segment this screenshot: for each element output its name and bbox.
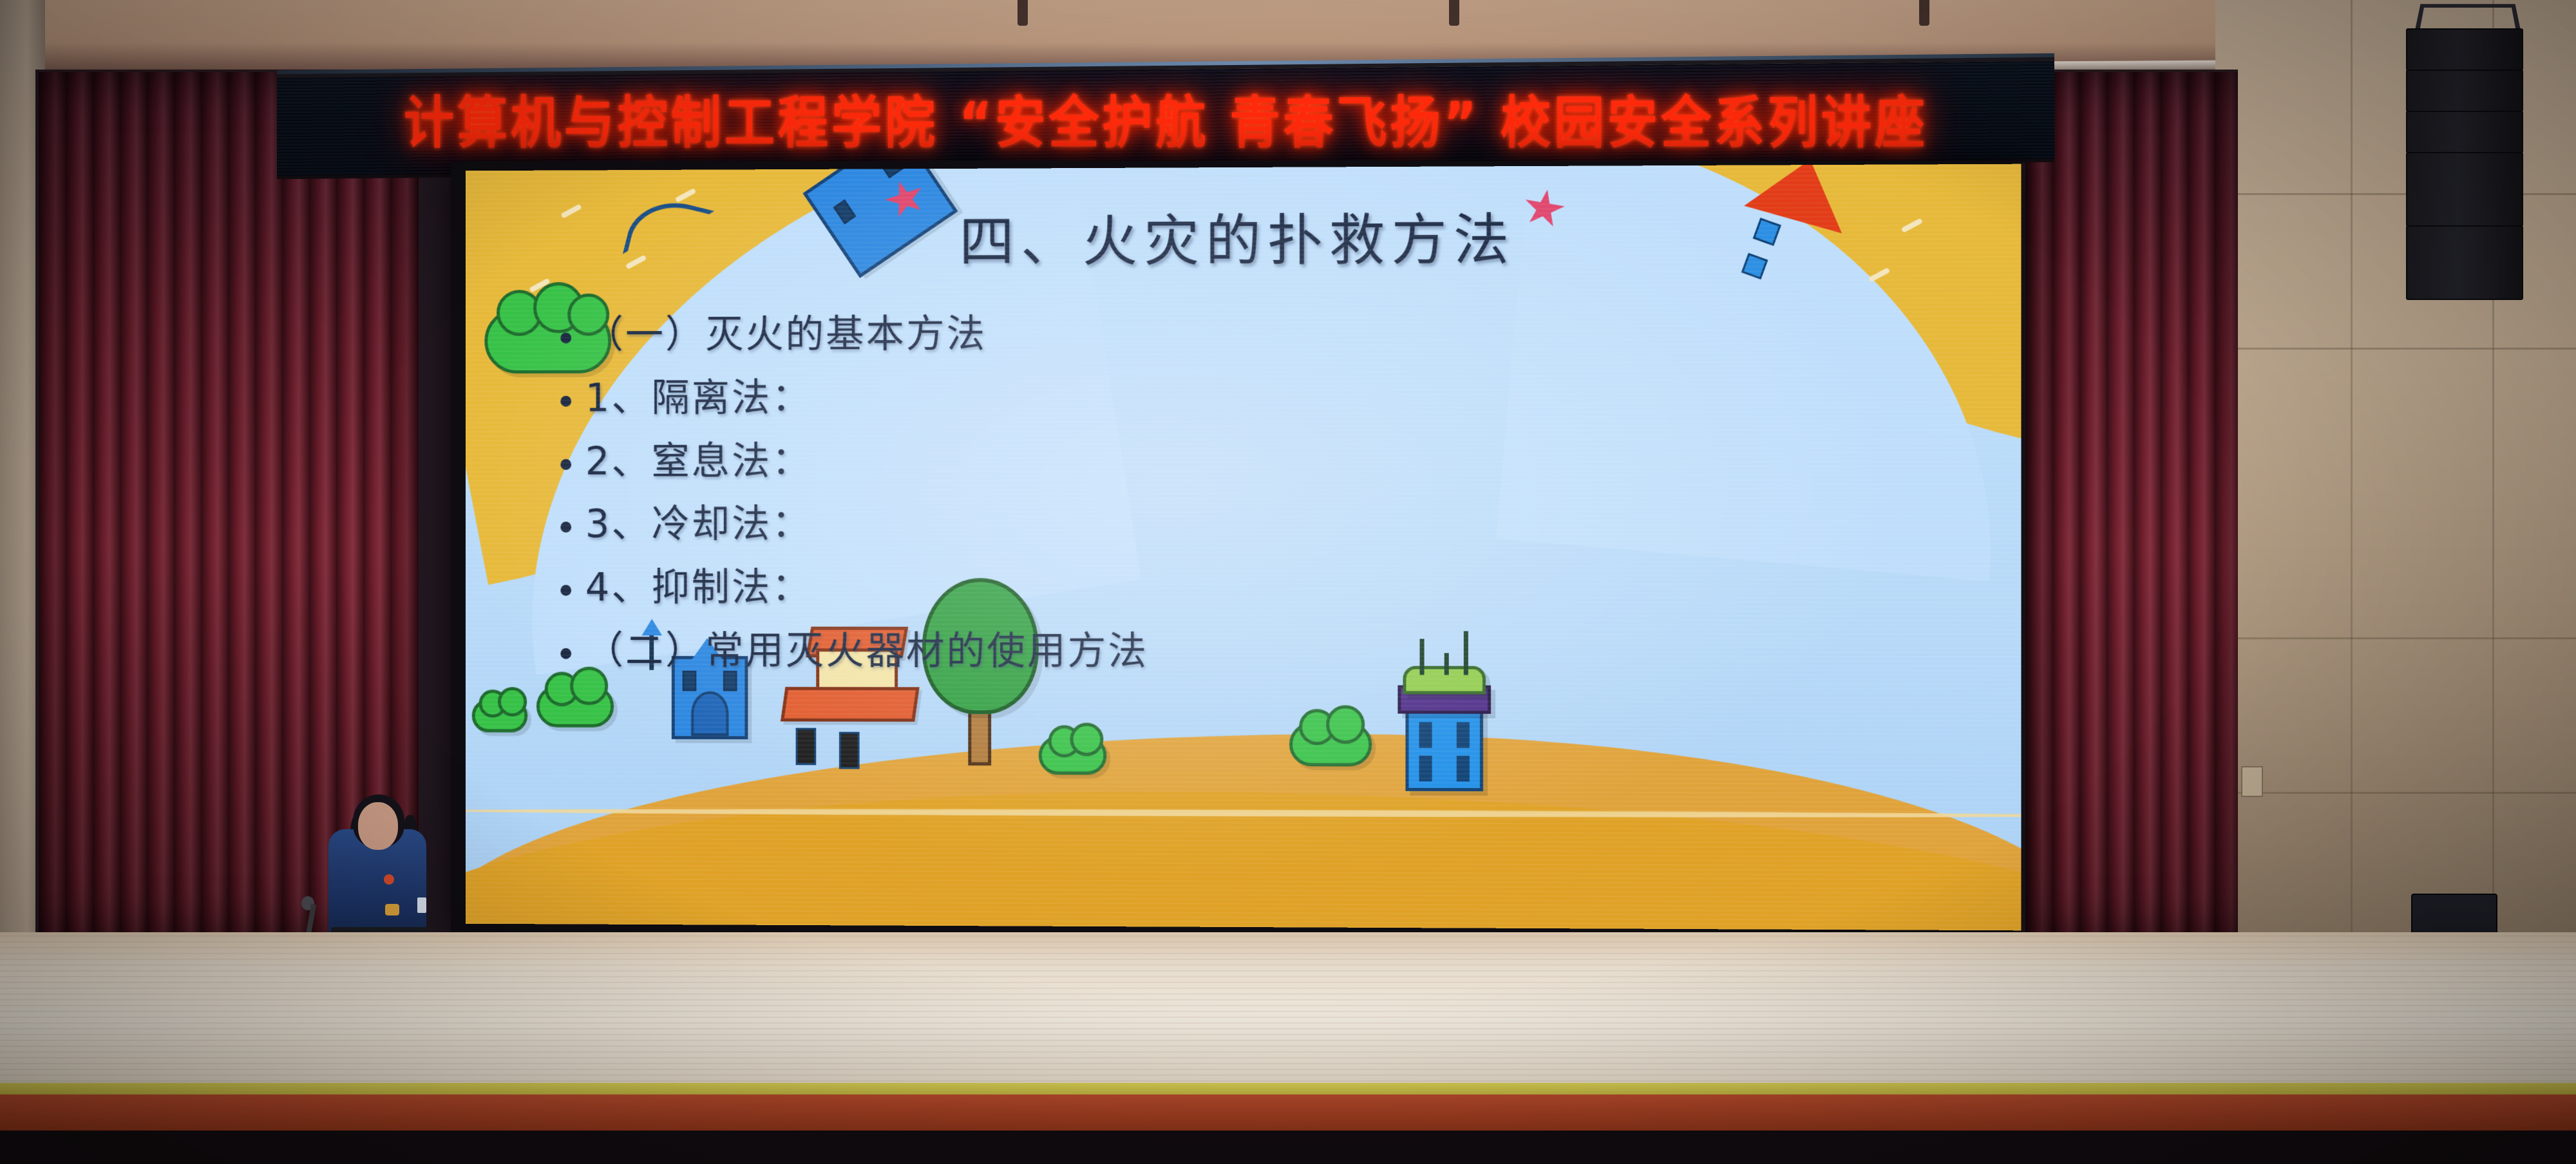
bush-icon <box>536 685 614 727</box>
stage-floor <box>0 932 2576 1093</box>
list-item: （一）灭火的基本方法 <box>560 307 1942 360</box>
window-icon <box>796 728 817 765</box>
bullet-dot-icon <box>560 522 571 533</box>
stage-curtain-right <box>2025 72 2238 935</box>
bush-icon <box>1289 722 1372 766</box>
slide-title: 四、火灾的扑救方法 <box>466 192 2022 279</box>
bullet-dot-icon <box>560 459 571 470</box>
uniform-badge-icon <box>385 904 399 915</box>
list-item: 1、隔离法： <box>560 371 1942 424</box>
ceiling-slot <box>1018 0 1028 26</box>
list-item: 3、冷却法： <box>560 500 1942 549</box>
led-banner-text: 计算机与控制工程学院 “安全护航 青春飞扬” 校园安全系列讲座 <box>404 78 1928 158</box>
uniform-badge-icon <box>384 874 394 885</box>
bullet-label: 1、隔离法： <box>585 373 812 423</box>
stage-edge-red <box>0 1094 2576 1133</box>
wall-outlet-box <box>2241 766 2263 797</box>
lecture-hall-photo: 计算机与控制工程学院 “安全护航 青春飞扬” 校园安全系列讲座 <box>0 0 2576 1164</box>
bullet-dot-icon <box>560 585 571 596</box>
presenter-face <box>358 802 398 850</box>
apartment-tower-icon <box>1405 702 1483 791</box>
bullet-label: （一）灭火的基本方法 <box>585 310 987 360</box>
slide-bullet-list: （一）灭火的基本方法 1、隔离法： 2、窒息法： 3、冷却法： 4、抑制法： <box>560 307 1942 692</box>
list-item: 4、抑制法： <box>560 563 1942 614</box>
bullet-dot-icon <box>560 648 571 659</box>
line-array-speaker-icon <box>2406 28 2521 305</box>
orchestra-pit-shadow <box>0 1131 2576 1164</box>
bush-icon <box>1039 736 1107 774</box>
bullet-label: 2、窒息法： <box>585 436 812 486</box>
ceiling-slot <box>1449 0 1459 26</box>
ceiling-slot <box>1919 0 1929 26</box>
projection-screen: 四、火灾的扑救方法 （一）灭火的基本方法 1、隔离法： 2、窒息法： 3、冷却法… <box>466 164 2022 931</box>
bullet-label: 3、冷却法： <box>585 500 812 549</box>
window-icon <box>839 732 860 769</box>
bush-icon <box>472 699 528 733</box>
bullet-label: 4、抑制法： <box>585 563 812 612</box>
bullet-dot-icon <box>560 333 571 344</box>
uniform-flag-icon <box>417 897 426 913</box>
bullet-dot-icon <box>560 396 571 407</box>
list-item: （二）常用灭火器材的使用方法 <box>560 626 1942 677</box>
house-red-roof-icon <box>781 687 920 722</box>
bullet-label: （二）常用灭火器材的使用方法 <box>585 626 1148 677</box>
list-item: 2、窒息法： <box>560 435 1942 486</box>
projection-screen-frame: 四、火灾的扑救方法 （一）灭火的基本方法 1、隔离法： 2、窒息法： 3、冷却法… <box>451 161 2022 934</box>
